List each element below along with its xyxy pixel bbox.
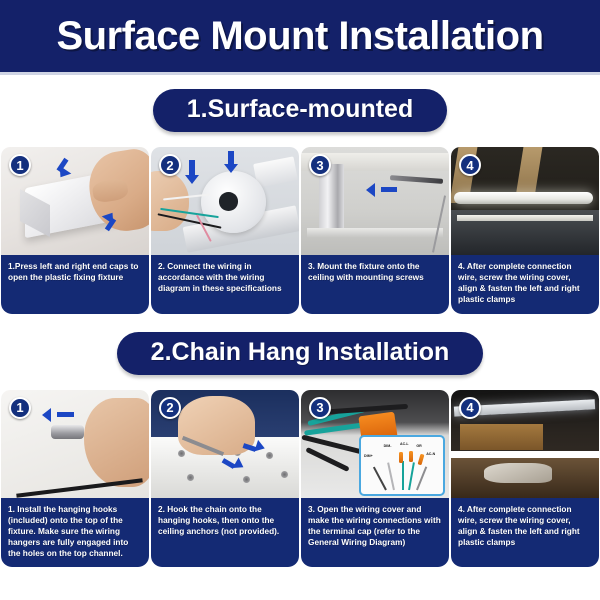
section-pill-chain-hang: 2.Chain Hang Installation xyxy=(117,332,484,375)
arrow-down-left-icon xyxy=(189,160,195,175)
diagram-label-dim-minus: DIM- xyxy=(384,444,392,448)
arrow-down-right-icon xyxy=(228,151,234,164)
arrow-left-icon xyxy=(57,412,74,417)
step-badge: 2 xyxy=(159,397,181,419)
wire-black xyxy=(305,447,350,472)
diagram-terminal-cap xyxy=(417,454,424,466)
channel-hole xyxy=(281,471,288,478)
diagram-terminal-cap xyxy=(409,451,413,462)
installed-light-tube xyxy=(457,215,593,220)
page-title: Surface Mount Installation xyxy=(56,14,543,59)
arrow-left-icon xyxy=(381,187,397,192)
channel-hole xyxy=(187,474,194,481)
diagram-label-dim-plus: DIM+ xyxy=(364,454,373,458)
step-badge: 4 xyxy=(459,154,481,176)
step-photo: 4 xyxy=(451,390,599,498)
step-caption: 3. Open the wiring cover and make the wi… xyxy=(301,498,449,568)
step-card[interactable]: 2 2. Hook the chain onto the hanging hoo… xyxy=(151,390,299,568)
arrow-left-head-icon xyxy=(42,408,51,422)
step-photo: 2 xyxy=(151,390,299,498)
wiring-knockout-hole xyxy=(219,192,238,210)
section-pill-surface-mounted: 1.Surface-mounted xyxy=(153,89,447,132)
step-photo: 3 xyxy=(301,147,449,255)
step-caption: 2. Connect the wiring in accordance with… xyxy=(151,255,299,314)
channel-hole xyxy=(243,476,250,483)
step-card[interactable]: 4 4. After complete connection wire, scr… xyxy=(451,147,599,314)
step-card[interactable]: DIM+ DIM- AC-L GR AC-N 3 3. Open the wir… xyxy=(301,390,449,568)
step-caption: 1. Install the hanging hooks (included) … xyxy=(1,498,149,568)
step-badge: 2 xyxy=(159,154,181,176)
tarp xyxy=(484,463,552,484)
step-card[interactable]: 3 3. Mount the fixture onto the ceiling … xyxy=(301,147,449,314)
hand xyxy=(151,171,189,231)
fixture-rail xyxy=(307,228,443,238)
installed-light-tube xyxy=(454,192,593,204)
diagram-lead-wire xyxy=(416,467,427,491)
diagram-label-gr: GR xyxy=(416,444,421,448)
arrow-down-right-head-icon xyxy=(224,164,238,173)
step-badge: 1 xyxy=(9,397,31,419)
channel-hole xyxy=(178,450,185,457)
diagram-lead-wire xyxy=(373,467,387,491)
diagram-label-ac-l: AC-L xyxy=(400,442,409,446)
steps-row-surface-mounted: 1 1.Press left and right end caps to ope… xyxy=(0,147,600,314)
step-caption: 4. After complete connection wire, screw… xyxy=(451,255,599,314)
arrow-left-head-icon xyxy=(366,183,375,197)
dark-edge xyxy=(16,478,143,498)
lower-photo-strip xyxy=(451,458,599,498)
step-photo: 1 xyxy=(1,390,149,498)
step-card[interactable]: 1 1. Install the hanging hooks (included… xyxy=(1,390,149,568)
diagram-terminal-cap xyxy=(399,452,403,463)
lower-photo-strip xyxy=(451,210,599,255)
step-caption: 4. After complete connection wire, screw… xyxy=(451,498,599,568)
section-pill-label: 2.Chain Hang Installation xyxy=(151,338,450,367)
section-pill-label: 1.Surface-mounted xyxy=(187,95,413,124)
step-card[interactable]: 2 2. Connect the wiring in accordance wi… xyxy=(151,147,299,314)
arrow-down-left-head-icon xyxy=(185,175,199,184)
step-caption: 1.Press left and right end caps to open … xyxy=(1,255,149,314)
header-banner: Surface Mount Installation xyxy=(0,0,600,72)
step-badge: 1 xyxy=(9,154,31,176)
step-caption: 2. Hook the chain onto the hanging hooks… xyxy=(151,498,299,568)
step-photo: DIM+ DIM- AC-L GR AC-N 3 xyxy=(301,390,449,498)
step-photo: 2 xyxy=(151,147,299,255)
storage-boxes xyxy=(460,424,543,450)
step-caption: 3. Mount the fixture onto the ceiling wi… xyxy=(301,255,449,314)
arrow-down-head-icon xyxy=(54,165,71,180)
step-badge: 3 xyxy=(309,397,331,419)
steps-row-chain-hang: 1 1. Install the hanging hooks (included… xyxy=(0,390,600,568)
step-card[interactable]: 4 4. After complete connection wire, scr… xyxy=(451,390,599,568)
step-card[interactable]: 1 1.Press left and right end caps to ope… xyxy=(1,147,149,314)
diagram-label-ac-n: AC-N xyxy=(426,452,435,456)
hand xyxy=(84,398,149,487)
step-photo: 1 xyxy=(1,147,149,255)
screwdriver xyxy=(390,175,444,184)
section-header-surface-mounted: 1.Surface-mounted xyxy=(0,89,600,132)
step-badge: 4 xyxy=(459,397,481,419)
cable xyxy=(432,195,446,252)
wiring-diagram-inset: DIM+ DIM- AC-L GR AC-N xyxy=(359,435,445,495)
installed-light-tube xyxy=(451,451,599,457)
section-header-chain-hang: 2.Chain Hang Installation xyxy=(0,332,600,375)
hanging-hook xyxy=(51,425,84,439)
step-photo: 4 xyxy=(451,147,599,255)
step-badge: 3 xyxy=(309,154,331,176)
